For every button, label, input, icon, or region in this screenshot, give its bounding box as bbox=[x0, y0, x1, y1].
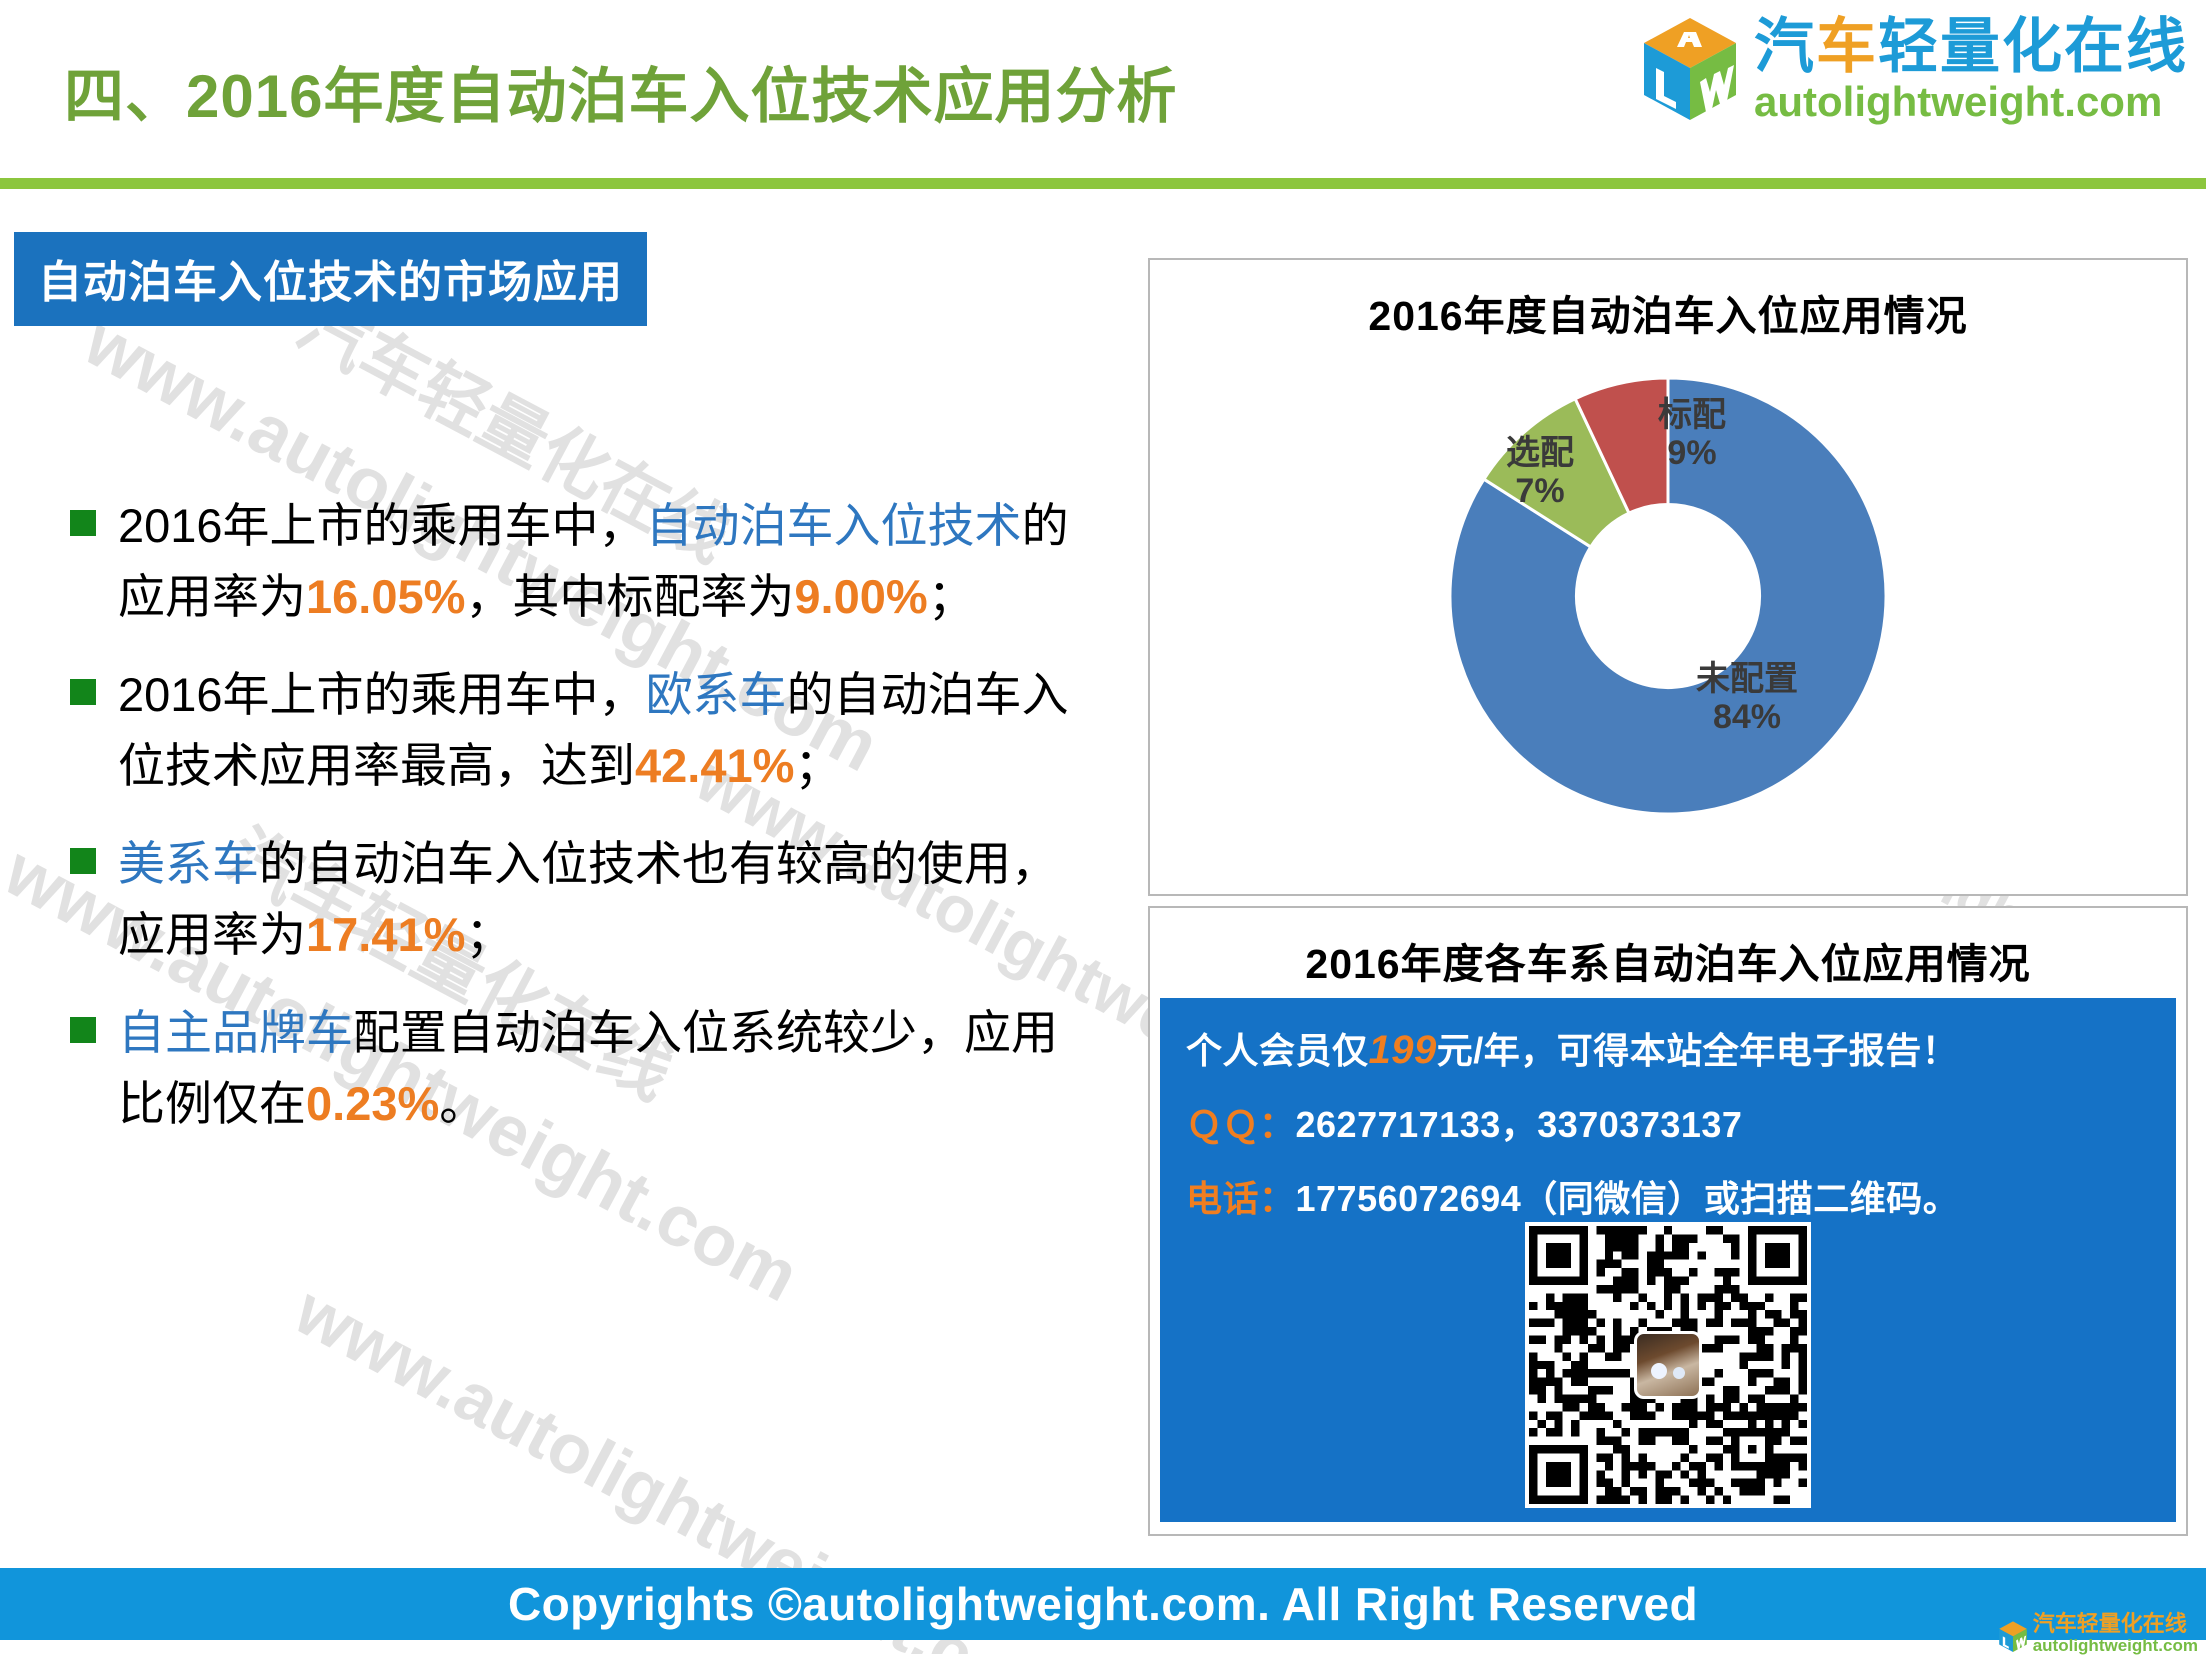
slice-label-standard: 标配 9% bbox=[1658, 396, 1726, 472]
membership-line: 电话：17756072694（同微信）或扫描二维码。 bbox=[1186, 1170, 2176, 1222]
footer-logo-en: autolightweight.com bbox=[2033, 1637, 2198, 1654]
slice-label-unequipped-value: 84% bbox=[1696, 698, 1798, 736]
brand-cn-part2: 轻量化在线 bbox=[1878, 13, 2188, 80]
bullet-segment-normal: ，其中标配率为 bbox=[465, 570, 794, 623]
bullet-item: 2016年上市的乘用车中，自动泊车入位技术的应用率为16.05%，其中标配率为9… bbox=[70, 490, 1090, 633]
membership-segment-white: 元/年，可得本站全年电子报告！ bbox=[1437, 1030, 1959, 1071]
section-heading: 自动泊车入位技术的市场应用 bbox=[14, 232, 647, 326]
brand-logo: 汽车轻量化在线 autolightweight.com bbox=[1640, 10, 2188, 130]
bullet-segment-blue: 美系车 bbox=[118, 837, 259, 890]
qr-center-avatar bbox=[1634, 1331, 1702, 1399]
bullet-item-text: 2016年上市的乘用车中，欧系车的自动泊车入位技术应用率最高，达到42.41%； bbox=[118, 659, 1090, 802]
copyright-text: Copyrights ©autolightweight.com. All Rig… bbox=[508, 1577, 1698, 1631]
bullet-item: 2016年上市的乘用车中，欧系车的自动泊车入位技术应用率最高，达到42.41%； bbox=[70, 659, 1090, 802]
slice-label-optional: 选配 7% bbox=[1506, 434, 1574, 510]
donut-chart: 未配置 84% 标配 9% 选配 7% bbox=[1150, 342, 2186, 842]
slice-label-unequipped: 未配置 84% bbox=[1696, 660, 1798, 736]
bullet-square-icon bbox=[70, 679, 96, 705]
page-title: 四、2016年度自动泊车入位技术应用分析 bbox=[64, 48, 1177, 135]
bullet-list: 2016年上市的乘用车中，自动泊车入位技术的应用率为16.05%，其中标配率为9… bbox=[70, 490, 1090, 1166]
footer-logo: 汽车轻量化在线 autolightweight.com bbox=[1998, 1613, 2198, 1654]
chart-title: 2016年度自动泊车入位应用情况 bbox=[1150, 282, 2186, 342]
slice-label-standard-name: 标配 bbox=[1658, 396, 1726, 434]
brand-cn-car: 车 bbox=[1816, 13, 1878, 80]
donut-chart-panel: 2016年度自动泊车入位应用情况 未配置 84% 标配 9% 选配 7% bbox=[1148, 258, 2188, 896]
bullet-segment-blue: 自动泊车入位技术 bbox=[646, 499, 1022, 552]
bullet-segment-blue: 欧系车 bbox=[646, 668, 787, 721]
alw-cube-icon bbox=[1640, 16, 1740, 124]
membership-segment-orange: 电话： bbox=[1186, 1178, 1296, 1219]
bullet-segment-normal: 。 bbox=[439, 1077, 486, 1130]
bullet-segment-normal: ； bbox=[465, 908, 512, 961]
bullet-segment-normal: 2016年上市的乘用车中， bbox=[118, 499, 646, 552]
wechat-qr-code[interactable] bbox=[1525, 1222, 1811, 1508]
bullet-segment-normal: 2016年上市的乘用车中， bbox=[118, 668, 646, 721]
bullet-segment-blue: 自主品牌车 bbox=[118, 1006, 353, 1059]
slice-label-unequipped-name: 未配置 bbox=[1696, 660, 1798, 698]
bullet-item-text: 2016年上市的乘用车中，自动泊车入位技术的应用率为16.05%，其中标配率为9… bbox=[118, 490, 1090, 633]
slice-label-optional-value: 7% bbox=[1506, 472, 1574, 510]
membership-segment-orange: ＱＱ： bbox=[1186, 1104, 1296, 1145]
brand-name-cn: 汽车轻量化在线 bbox=[1754, 17, 2188, 77]
bullet-square-icon bbox=[70, 510, 96, 536]
bullet-segment-normal: 的自动泊车入位技术也有较高的使用，应用率为 bbox=[118, 837, 1058, 961]
brand-cn-part1: 汽 bbox=[1754, 13, 1816, 80]
qr-code-matrix bbox=[1529, 1226, 1807, 1504]
alw-mini-cube-icon bbox=[1998, 1620, 2028, 1654]
bullet-item-text: 美系车的自动泊车入位技术也有较高的使用，应用率为17.41%； bbox=[118, 828, 1090, 971]
bullet-item: 自主品牌车配置自动泊车入位系统较少，应用比例仅在0.23%。 bbox=[70, 997, 1090, 1140]
bullet-item-text: 自主品牌车配置自动泊车入位系统较少，应用比例仅在0.23%。 bbox=[118, 997, 1090, 1140]
membership-panel-title: 2016年度各车系自动泊车入位应用情况 bbox=[1150, 930, 2186, 990]
brand-name-en: autolightweight.com bbox=[1754, 81, 2188, 123]
membership-line: 个人会员仅199元/年，可得本站全年电子报告！ bbox=[1186, 1022, 2176, 1074]
slice-label-optional-name: 选配 bbox=[1506, 434, 1574, 472]
footer-bar: Copyrights ©autolightweight.com. All Rig… bbox=[0, 1568, 2206, 1640]
membership-segment-white: 2627717133，3370373137 bbox=[1296, 1104, 1743, 1145]
membership-segment-price: 199 bbox=[1369, 1028, 1437, 1072]
membership-panel: 2016年度各车系自动泊车入位应用情况 个人会员仅199元/年，可得本站全年电子… bbox=[1148, 906, 2188, 1536]
membership-segment-white: 17756072694（同微信）或扫描二维码。 bbox=[1296, 1178, 1960, 1219]
footer-logo-cn: 汽车轻量化在线 bbox=[2033, 1613, 2198, 1635]
bullet-segment-normal: ； bbox=[928, 570, 975, 623]
bullet-segment-orange: 0.23% bbox=[306, 1077, 439, 1130]
bullet-segment-normal: ； bbox=[794, 739, 841, 792]
bullet-square-icon bbox=[70, 1017, 96, 1043]
membership-line: ＱＱ：2627717133，3370373137 bbox=[1186, 1096, 2176, 1148]
bullet-item: 美系车的自动泊车入位技术也有较高的使用，应用率为17.41%； bbox=[70, 828, 1090, 971]
membership-lines: 个人会员仅199元/年，可得本站全年电子报告！ＱＱ：2627717133，337… bbox=[1160, 1022, 2176, 1222]
bullet-segment-orange: 16.05% bbox=[306, 570, 465, 623]
bullet-segment-orange: 17.41% bbox=[306, 908, 465, 961]
slice-label-standard-value: 9% bbox=[1658, 434, 1726, 472]
bullet-segment-orange: 9.00% bbox=[794, 570, 927, 623]
membership-info-box: 个人会员仅199元/年，可得本站全年电子报告！ＱＱ：2627717133，337… bbox=[1160, 998, 2176, 1522]
bullet-segment-orange: 42.41% bbox=[635, 739, 794, 792]
membership-segment-white: 个人会员仅 bbox=[1186, 1030, 1369, 1071]
bullet-square-icon bbox=[70, 848, 96, 874]
title-divider bbox=[0, 178, 2206, 189]
